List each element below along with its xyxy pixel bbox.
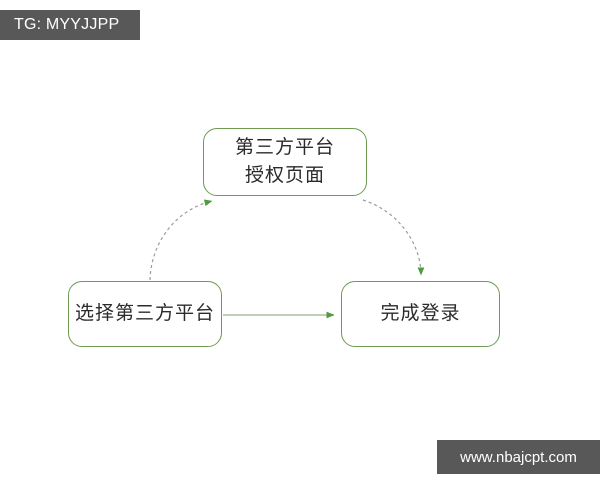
connector-auth-to-finish	[363, 200, 421, 275]
site-watermark: www.nbajcpt.com	[437, 440, 600, 474]
node-auth-page-line-1: 第三方平台	[235, 134, 335, 162]
diagram-canvas: TG: MYYJJPP 第三方平台 授权页面 选择第三方平台 完	[0, 0, 600, 480]
connector-select-to-auth	[150, 201, 212, 280]
site-watermark-label: www.nbajcpt.com	[460, 449, 577, 466]
node-finish-login[interactable]: 完成登录	[341, 281, 500, 347]
node-auth-page-line-2: 授权页面	[245, 162, 325, 190]
flowchart-connectors	[0, 0, 600, 480]
node-finish-login-label: 完成登录	[380, 300, 460, 328]
node-select-platform-label: 选择第三方平台	[75, 300, 215, 328]
node-third-party-auth-page[interactable]: 第三方平台 授权页面	[203, 128, 367, 196]
node-select-third-party-platform[interactable]: 选择第三方平台	[68, 281, 222, 347]
